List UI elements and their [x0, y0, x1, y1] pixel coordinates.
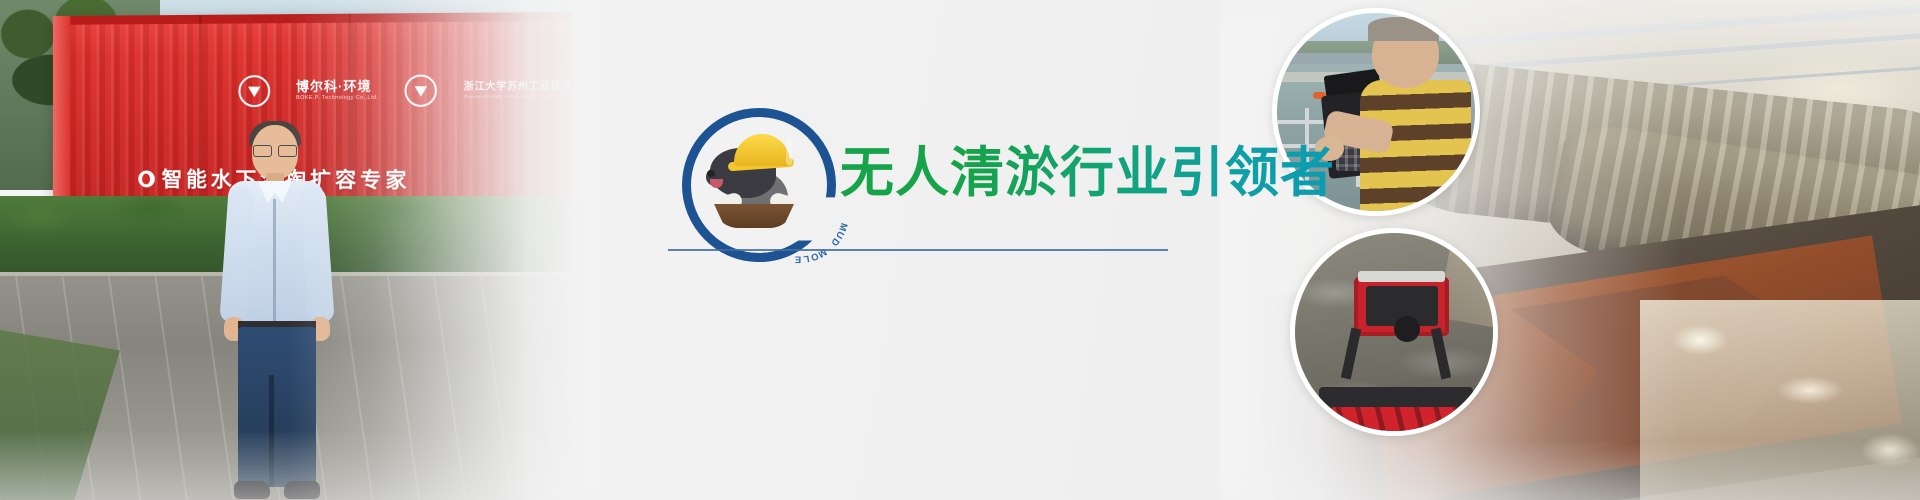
robot-auger — [1327, 407, 1466, 431]
hard-hat-icon — [734, 134, 790, 166]
zju-brand: 浙江大学苏州工业技术研究院 Zhejiang University Suzhou… — [464, 82, 600, 99]
boke-shield-icon — [238, 75, 270, 107]
person-shirt-placket — [273, 199, 276, 325]
person-right-shoe — [284, 481, 320, 499]
boke-brand: 博尔科·环境 BOKE.P. Technology Co.,Ltd. — [296, 80, 378, 102]
boke-brand-en: BOKE.P. Technology Co.,Ltd. — [296, 96, 378, 102]
container-logo-row: 博尔科·环境 BOKE.P. Technology Co.,Ltd. 浙江大学苏… — [238, 69, 572, 112]
left-photo-scene: 博尔科·环境 BOKE.P. Technology Co.,Ltd. 浙江大学苏… — [0, 0, 600, 500]
zju-shield-icon — [405, 75, 437, 107]
person-trouser-seam — [269, 375, 274, 487]
inset-photo-dredging-robot — [1290, 228, 1498, 436]
person-left-shoe — [234, 481, 270, 499]
boke-brand-cn: 博尔科·环境 — [296, 80, 378, 94]
robot-wheel — [1394, 316, 1420, 342]
page-title: 无人清淤行业引领者 — [840, 128, 1335, 207]
person-engineer — [222, 125, 332, 500]
center-brand-block: MUD MOLE 无人清淤行业引领者 — [660, 0, 1260, 500]
robot-top-plate — [1358, 271, 1445, 283]
dredging-robot-scene — [1295, 233, 1493, 431]
person-trousers — [238, 327, 316, 487]
mud-mole-logo: MUD MOLE — [682, 108, 818, 244]
zju-brand-en: Zhejiang University Suzhou Institute of … — [464, 94, 600, 99]
logo-arc-letter: E — [794, 253, 801, 264]
left-photo-container-site: 博尔科·环境 BOKE.P. Technology Co.,Ltd. 浙江大学苏… — [0, 0, 600, 500]
dried-crust — [1640, 300, 1920, 500]
hard-hat-rib — [786, 137, 792, 165]
hero-banner: 博尔科·环境 BOKE.P. Technology Co.,Ltd. 浙江大学苏… — [0, 0, 1920, 500]
person-glasses — [253, 145, 297, 155]
logo-arc-text: MUD MOLE — [754, 168, 844, 258]
slogan-mark-icon — [138, 170, 155, 187]
operator-cap — [1368, 17, 1439, 41]
zju-brand-cn: 浙江大学苏州工业技术研究院 — [464, 82, 600, 93]
title-divider — [668, 249, 1168, 251]
mole-nose — [707, 170, 715, 177]
